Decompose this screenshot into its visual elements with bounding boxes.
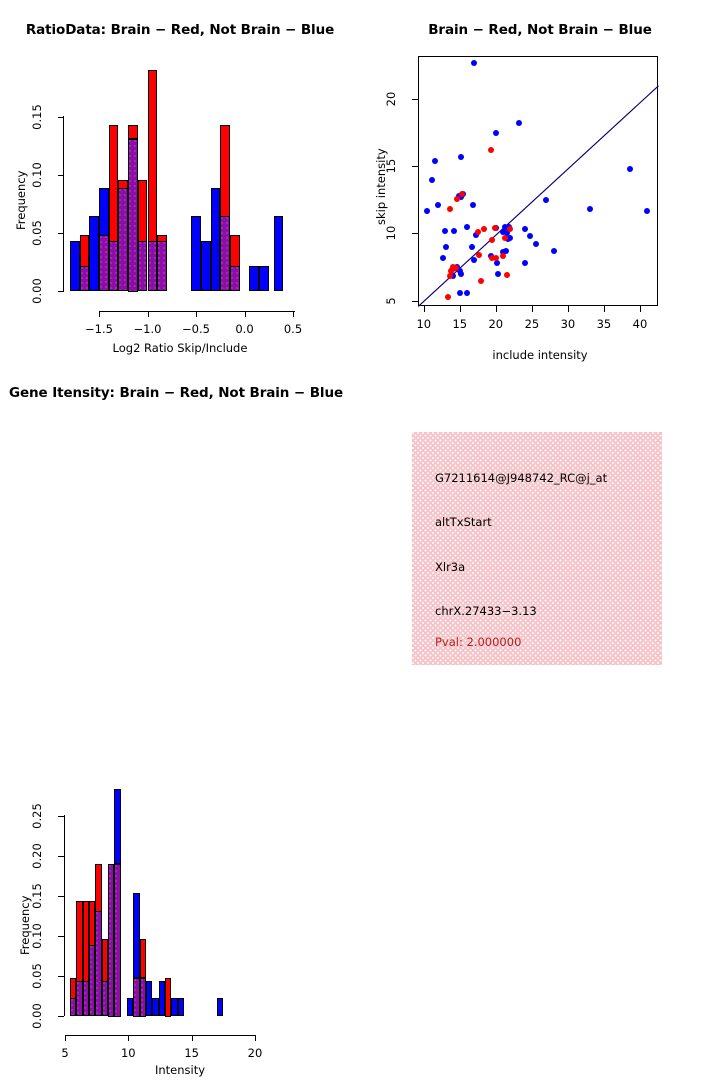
scatter-point	[470, 202, 476, 208]
histogram-bar	[220, 216, 230, 292]
scatter-point	[551, 248, 557, 254]
scatter-point	[495, 271, 501, 277]
scatter-point	[516, 120, 522, 126]
histogram-bar	[83, 901, 89, 982]
scatter-point	[507, 226, 513, 232]
scatter-points	[360, 0, 720, 360]
scatter-point	[451, 228, 457, 234]
scatter-point	[478, 278, 484, 284]
histogram-bar	[138, 180, 148, 242]
histogram-bar	[109, 125, 119, 242]
histogram-bar	[140, 978, 146, 1017]
histogram-bar	[102, 939, 108, 982]
histogram-bar	[114, 864, 120, 1017]
histogram-bar	[148, 70, 158, 242]
scatter-point	[464, 290, 470, 296]
scatter-point	[424, 208, 430, 214]
scatter-point	[475, 229, 481, 235]
ratio-histogram-panel: RatioData: Brain − Red, Not Brain − Blue…	[0, 0, 360, 360]
scatter-point	[469, 244, 475, 250]
histogram-bar	[217, 998, 223, 1016]
scatter-point	[481, 226, 487, 232]
scatter-point	[471, 257, 477, 263]
histogram-bar	[114, 789, 120, 865]
scatter-point	[504, 272, 510, 278]
scatter-point	[429, 177, 435, 183]
histogram-bar	[128, 125, 138, 140]
histogram-bar	[70, 241, 80, 292]
histogram-bar	[138, 241, 148, 292]
scatter-point	[488, 147, 494, 153]
histogram-bar	[99, 188, 109, 236]
histogram-bar	[118, 180, 128, 190]
histogram-bar	[201, 241, 211, 292]
histogram-bar	[230, 235, 240, 266]
histogram-bar	[118, 188, 128, 291]
histogram-bar	[148, 241, 158, 292]
scatter-point	[493, 130, 499, 136]
scatter-point	[458, 154, 464, 160]
scatter-point	[522, 226, 528, 232]
scatter-point	[442, 228, 448, 234]
histogram-bar	[178, 998, 184, 1016]
gene-intensity-histogram-panel: Gene Itensity: Brain − Red, Not Brain − …	[0, 360, 360, 720]
pval-label: Pval: 2.000000	[435, 635, 521, 649]
histogram-bar	[80, 266, 90, 292]
scatter-point	[454, 196, 460, 202]
histogram-bar	[140, 939, 146, 978]
histogram-bar	[109, 241, 119, 292]
histogram-bar	[159, 981, 165, 1016]
scatter-point	[500, 253, 506, 259]
histogram-bar	[80, 235, 90, 266]
scatter-point	[471, 60, 477, 66]
scatter-point	[457, 290, 463, 296]
scatter-point	[587, 206, 593, 212]
scatter-point	[543, 197, 549, 203]
scatter-point	[440, 255, 446, 261]
scatter-point	[476, 252, 482, 258]
histogram-bar	[95, 864, 101, 912]
histogram-bar	[157, 235, 167, 241]
event-type-label: altTxStart	[435, 515, 492, 529]
histogram-bar	[157, 241, 167, 292]
histogram-bar	[274, 216, 284, 292]
scatter-point	[489, 237, 495, 243]
ratio-histogram-bars	[0, 0, 360, 360]
scatter-point	[493, 255, 499, 261]
scatter-point	[502, 235, 508, 241]
scatter-point	[533, 241, 539, 247]
scatter-point	[443, 244, 449, 250]
intensity-scatter-panel: Brain − Red, Not Brain − Blue skip inten…	[360, 0, 720, 360]
scatter-point	[435, 202, 441, 208]
gene-info-panel: G7211614@J948742_RC@j_at altTxStart Xlr3…	[412, 432, 662, 665]
scatter-point	[447, 206, 453, 212]
scatter-point	[627, 166, 633, 172]
histogram-bar	[211, 188, 221, 291]
histogram-bar	[249, 266, 259, 292]
histogram-bar	[220, 125, 230, 217]
probe-id-label: G7211614@J948742_RC@j_at	[435, 471, 607, 485]
histogram-bar	[102, 981, 108, 1016]
gene-histogram-title: Gene Itensity: Brain − Red, Not Brain − …	[0, 385, 356, 401]
scatter-point	[445, 294, 451, 300]
histogram-bar	[128, 139, 138, 292]
scatter-point	[644, 208, 650, 214]
gene-symbol-label: Xlr3a	[435, 560, 465, 574]
histogram-bar	[83, 981, 89, 1016]
scatter-point	[432, 158, 438, 164]
scatter-point	[527, 233, 533, 239]
scatter-point	[464, 224, 470, 230]
histogram-bar	[191, 216, 201, 292]
histogram-bar	[89, 216, 99, 292]
histogram-bar	[259, 266, 269, 292]
scatter-point	[522, 260, 528, 266]
locus-label: chrX.27433−3.13	[435, 604, 537, 618]
gene-histogram-bars	[0, 720, 360, 1080]
histogram-bar	[230, 266, 240, 292]
histogram-bar	[99, 235, 109, 291]
scatter-point	[494, 260, 500, 266]
